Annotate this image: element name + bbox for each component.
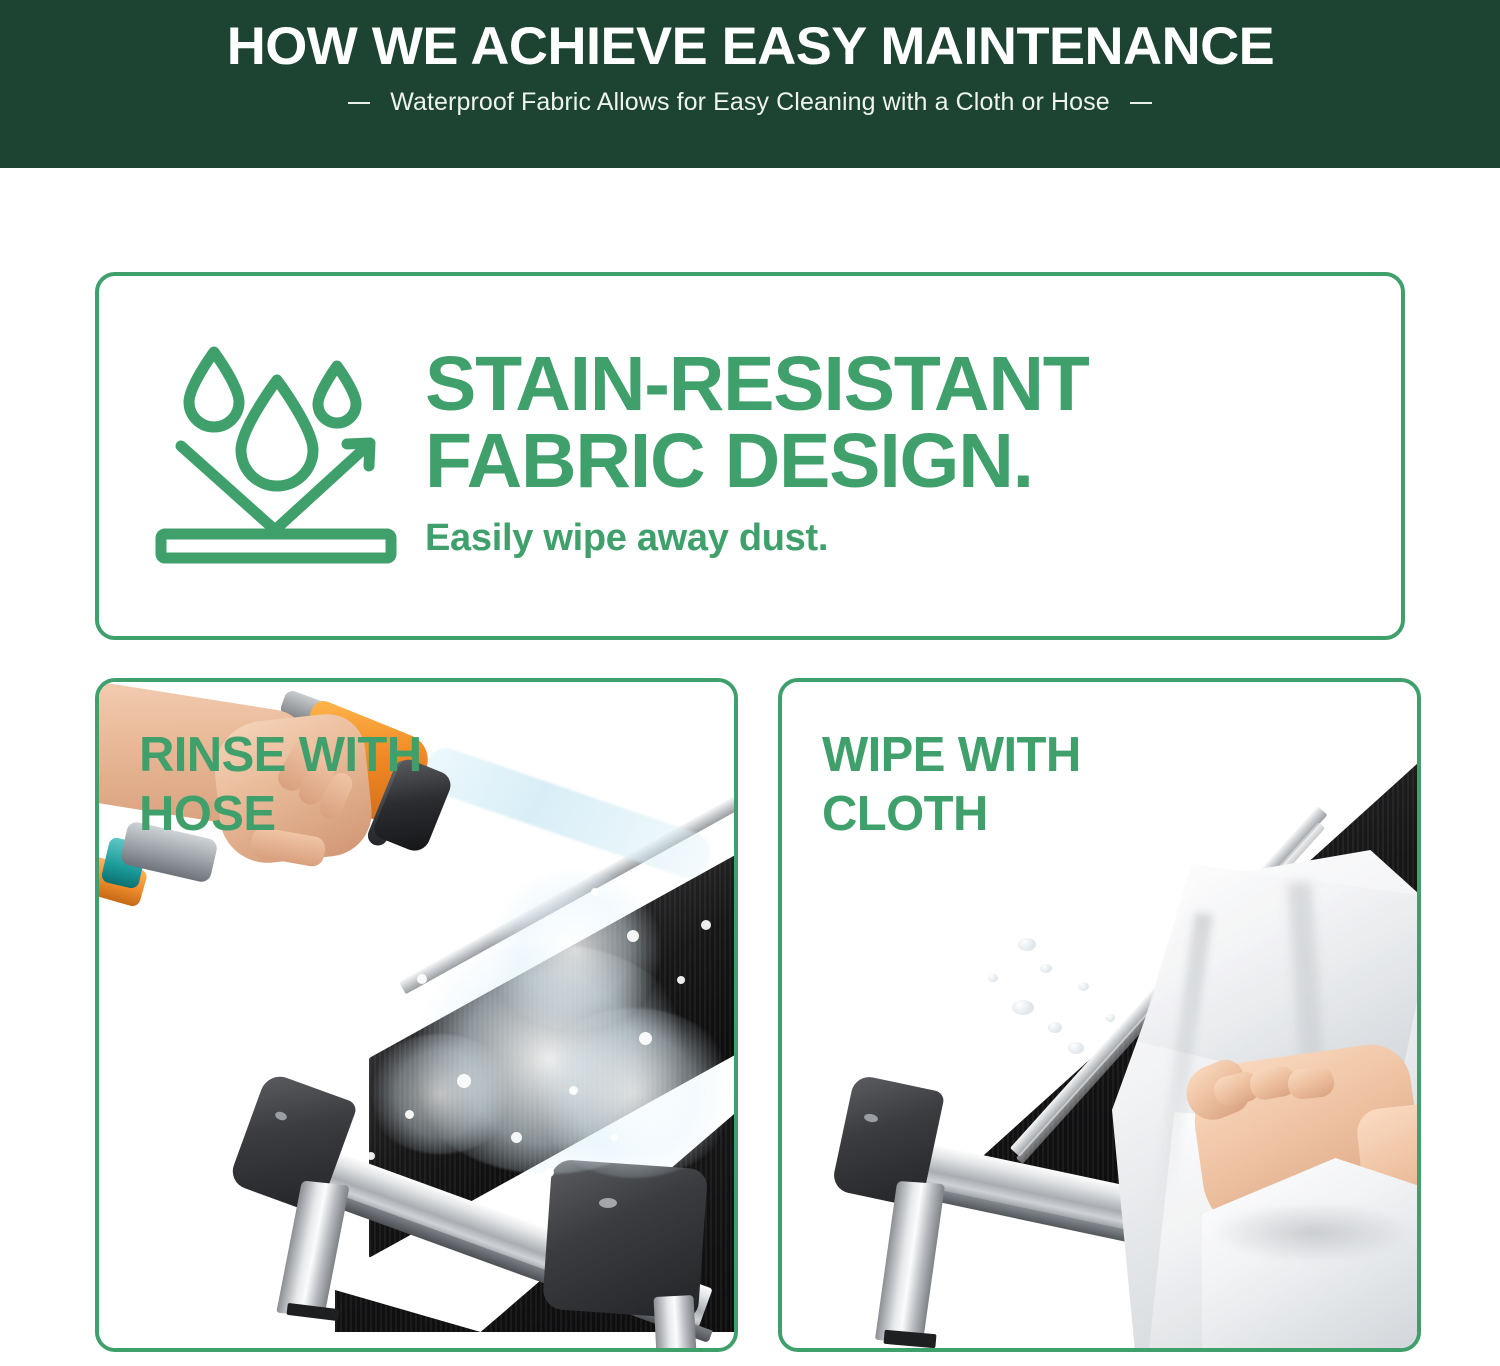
feature-card-stain-resistant: STAIN-RESISTANT FABRIC DESIGN. Easily wi… (95, 272, 1405, 640)
water-repellent-fabric-icon (151, 336, 401, 576)
dash-left-icon (348, 102, 370, 104)
feature-text-block: STAIN-RESISTANT FABRIC DESIGN. Easily wi… (425, 346, 1089, 565)
water-stream (418, 742, 717, 883)
subtitle-row: Waterproof Fabric Allows for Easy Cleani… (348, 88, 1152, 117)
feature-subtext: Easily wipe away dust. (425, 517, 1089, 560)
page-subtitle: Waterproof Fabric Allows for Easy Cleani… (390, 88, 1110, 117)
infographic-page: HOW WE ACHIEVE EASY MAINTENANCE Waterpro… (0, 0, 1500, 1366)
card-wipe-with-cloth: WIPE WITH CLOTH (778, 678, 1421, 1352)
feature-heading-line2: FABRIC DESIGN. (425, 423, 1089, 499)
hose-rinsing-pet-cot-photo (99, 682, 734, 1348)
feature-heading-line1: STAIN-RESISTANT (425, 346, 1089, 422)
cloth-wiping-pet-cot-photo (782, 682, 1417, 1348)
header-banner: HOW WE ACHIEVE EASY MAINTENANCE Waterpro… (0, 0, 1500, 168)
dash-right-icon (1130, 102, 1152, 104)
card-rinse-with-hose: RINSE WITH HOSE (95, 678, 738, 1352)
page-title: HOW WE ACHIEVE EASY MAINTENANCE (226, 18, 1273, 75)
